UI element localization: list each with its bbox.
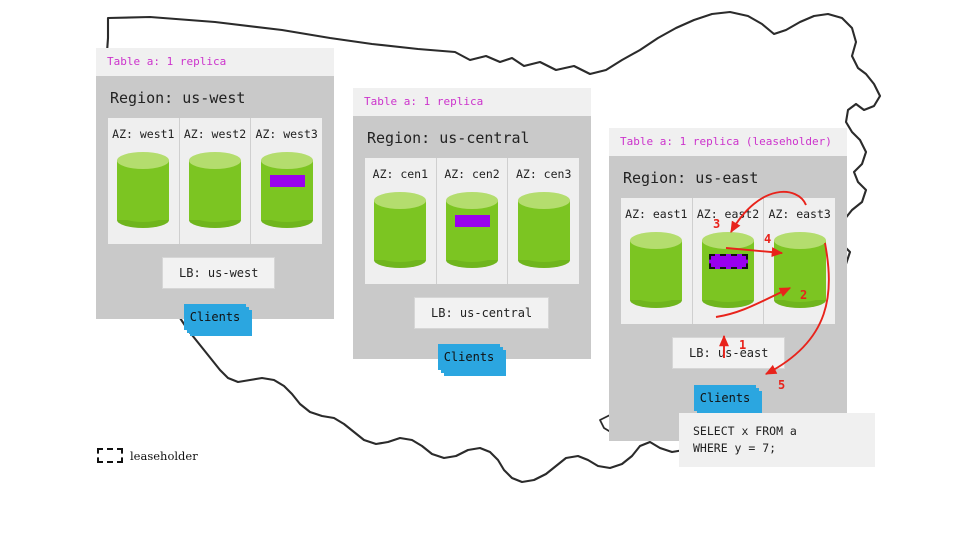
node-cylinder-cen1[interactable] — [374, 192, 426, 270]
clients-stack-us-central[interactable]: Clients — [438, 344, 500, 370]
az-west2[interactable]: AZ: west2 — [180, 118, 252, 244]
az-label: AZ: cen1 — [373, 167, 428, 181]
load-balancer-us-east[interactable]: LB: us-east — [672, 337, 785, 369]
region-panel-us-east: Table a: 1 replica (leaseholder) Region:… — [609, 128, 847, 441]
region-title-us-west: Region: us-west — [96, 76, 334, 118]
az-label: AZ: east3 — [769, 207, 831, 221]
clients-label: Clients — [694, 385, 756, 411]
legend-label: leaseholder — [130, 449, 198, 463]
node-cylinder-cen3[interactable] — [518, 192, 570, 270]
az-cen1[interactable]: AZ: cen1 — [365, 158, 437, 284]
leaseholder-marker-east2 — [709, 254, 748, 269]
clients-label: Clients — [184, 304, 246, 330]
az-label: AZ: west3 — [256, 127, 318, 141]
node-cylinder-east1[interactable] — [630, 232, 682, 310]
legend: leaseholder — [97, 448, 198, 463]
arrow-label-1: 1 — [739, 338, 746, 352]
load-balancer-us-central[interactable]: LB: us-central — [414, 297, 549, 329]
az-row-us-central: AZ: cen1 AZ: cen2 AZ: cen3 — [365, 158, 579, 284]
node-cylinder-west3[interactable] — [261, 152, 313, 230]
region-body-us-central: Region: us-central AZ: cen1 AZ: cen2 — [353, 116, 591, 359]
diagram-canvas: Table a: 1 replica Region: us-west AZ: w… — [0, 0, 960, 540]
az-west1[interactable]: AZ: west1 — [108, 118, 180, 244]
az-row-us-east: AZ: east1 AZ: east2 AZ: east3 — [621, 198, 835, 324]
region-panel-us-west: Table a: 1 replica Region: us-west AZ: w… — [96, 48, 334, 319]
az-east1[interactable]: AZ: east1 — [621, 198, 693, 324]
az-cen3[interactable]: AZ: cen3 — [508, 158, 579, 284]
region-body-us-east: Region: us-east AZ: east1 AZ: east2 — [609, 156, 847, 441]
arrow-label-4: 4 — [764, 232, 771, 246]
replica-marker-cen2 — [455, 215, 490, 227]
replica-label-us-central: Table a: 1 replica — [353, 88, 591, 116]
az-label: AZ: cen3 — [516, 167, 571, 181]
az-label: AZ: cen2 — [444, 167, 499, 181]
az-east2[interactable]: AZ: east2 — [693, 198, 765, 324]
node-cylinder-west1[interactable] — [117, 152, 169, 230]
clients-stack-us-west[interactable]: Clients — [184, 304, 246, 330]
clients-stack-us-east[interactable]: Clients — [694, 385, 756, 411]
node-cylinder-cen2[interactable] — [446, 192, 498, 270]
az-row-us-west: AZ: west1 AZ: west2 AZ: west3 — [108, 118, 322, 244]
region-title-us-east: Region: us-east — [609, 156, 847, 198]
arrow-label-5: 5 — [778, 378, 785, 392]
node-cylinder-west2[interactable] — [189, 152, 241, 230]
az-cen2[interactable]: AZ: cen2 — [437, 158, 509, 284]
clients-label: Clients — [438, 344, 500, 370]
replica-marker-west3 — [270, 175, 305, 187]
region-title-us-central: Region: us-central — [353, 116, 591, 158]
az-label: AZ: west2 — [184, 127, 246, 141]
az-label: AZ: east2 — [697, 207, 759, 221]
az-west3[interactable]: AZ: west3 — [251, 118, 322, 244]
arrow-label-3: 3 — [713, 217, 720, 231]
az-label: AZ: west1 — [112, 127, 174, 141]
sql-query-box: SELECT x FROM a WHERE y = 7; — [679, 413, 875, 467]
leaseholder-swatch-icon — [97, 448, 123, 463]
az-label: AZ: east1 — [625, 207, 687, 221]
region-panel-us-central: Table a: 1 replica Region: us-central AZ… — [353, 88, 591, 359]
load-balancer-us-west[interactable]: LB: us-west — [162, 257, 275, 289]
replica-label-us-east: Table a: 1 replica (leaseholder) — [609, 128, 847, 156]
arrow-label-2: 2 — [800, 288, 807, 302]
az-east3[interactable]: AZ: east3 — [764, 198, 835, 324]
node-cylinder-east2[interactable] — [702, 232, 754, 310]
region-body-us-west: Region: us-west AZ: west1 AZ: west2 AZ: … — [96, 76, 334, 319]
replica-label-us-west: Table a: 1 replica — [96, 48, 334, 76]
